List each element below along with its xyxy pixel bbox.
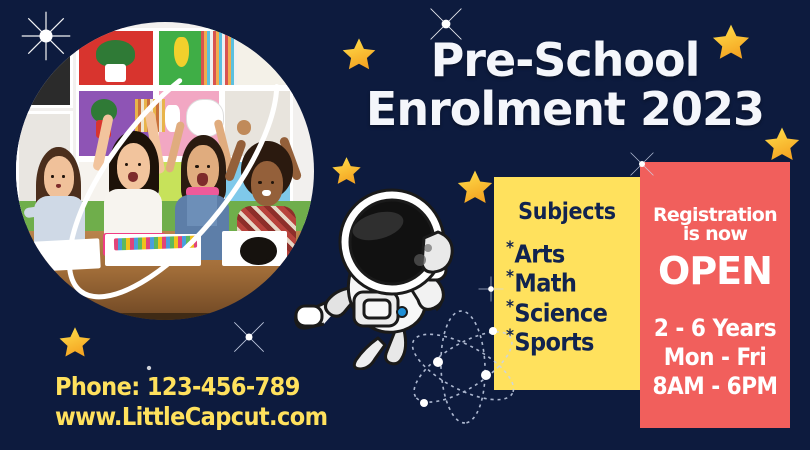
registration-line-2: is now xyxy=(683,223,747,245)
title-line-2: Enrolment 2023 xyxy=(355,85,775,134)
colored-pencils xyxy=(114,235,198,250)
list-item: *Arts xyxy=(506,239,634,268)
sparkle-icon xyxy=(228,316,270,358)
mouth xyxy=(56,184,61,188)
eye xyxy=(138,163,141,167)
title-line-1: Pre-School xyxy=(431,33,700,87)
subject-label: Arts xyxy=(514,239,564,268)
star-icon xyxy=(710,22,752,64)
atom-icon xyxy=(398,305,528,430)
paper-sheet xyxy=(33,238,100,271)
open-mouth xyxy=(197,173,208,185)
eye xyxy=(207,165,211,168)
sparkle-icon xyxy=(624,146,660,182)
phone-text: Phone: 123-456-789 xyxy=(55,372,355,402)
star-icon xyxy=(330,155,363,188)
website-text: www.LittleCapcut.com xyxy=(55,402,355,432)
sparkle-icon xyxy=(136,355,162,381)
electron-dot xyxy=(489,327,497,335)
subject-label: Science xyxy=(514,298,607,327)
registration-status: OPEN xyxy=(640,252,790,290)
star-icon xyxy=(57,325,93,361)
sparkle-icon xyxy=(18,8,74,64)
registration-heading: Registration is now xyxy=(644,206,786,245)
electron-dot xyxy=(420,399,428,407)
paper-sheet xyxy=(222,231,288,267)
eye xyxy=(271,181,274,184)
overall-bib xyxy=(187,195,217,226)
open-days: Mon - Fri xyxy=(642,343,788,372)
drawing-mark xyxy=(240,237,277,265)
books-decor xyxy=(201,31,237,85)
smile xyxy=(262,190,270,196)
planter-decor xyxy=(105,64,126,82)
eye xyxy=(258,181,261,184)
face xyxy=(187,145,218,192)
electron-dot xyxy=(433,357,443,367)
photo-scene xyxy=(16,22,314,320)
face xyxy=(117,143,151,190)
open-hours: 8AM - 6PM xyxy=(642,372,788,401)
open-mouth xyxy=(128,172,138,182)
children-classroom-photo xyxy=(16,22,314,320)
subjects-heading: Subjects xyxy=(494,199,640,225)
eye xyxy=(62,175,65,179)
child-figure xyxy=(96,111,176,254)
vase-decor xyxy=(174,37,189,67)
star-icon xyxy=(455,168,495,208)
star-icon xyxy=(340,36,378,74)
eye xyxy=(195,165,199,168)
asterisk-icon: * xyxy=(506,238,513,258)
age-range: 2 - 6 Years xyxy=(642,314,788,343)
subject-label: Math xyxy=(514,269,576,298)
registration-panel: Registration is now OPEN 2 - 6 Years Mon… xyxy=(640,162,790,428)
sparkle-icon xyxy=(474,272,508,306)
face xyxy=(44,156,74,199)
sparkle-icon xyxy=(424,2,468,46)
star-icon xyxy=(762,125,802,165)
eye xyxy=(51,175,54,179)
list-item: *Math xyxy=(506,268,634,297)
eye xyxy=(125,163,128,167)
electron-dot xyxy=(481,370,491,380)
plant-decor xyxy=(96,40,135,67)
poster-canvas: Pre-School Enrolment 2023 Subjects *Arts… xyxy=(0,0,810,450)
contact-block: Phone: 123-456-789 www.LittleCapcut.com xyxy=(55,372,355,431)
face xyxy=(251,161,284,206)
torso xyxy=(104,189,162,238)
registration-details: 2 - 6 Years Mon - Fri 8AM - 6PM xyxy=(642,314,788,400)
